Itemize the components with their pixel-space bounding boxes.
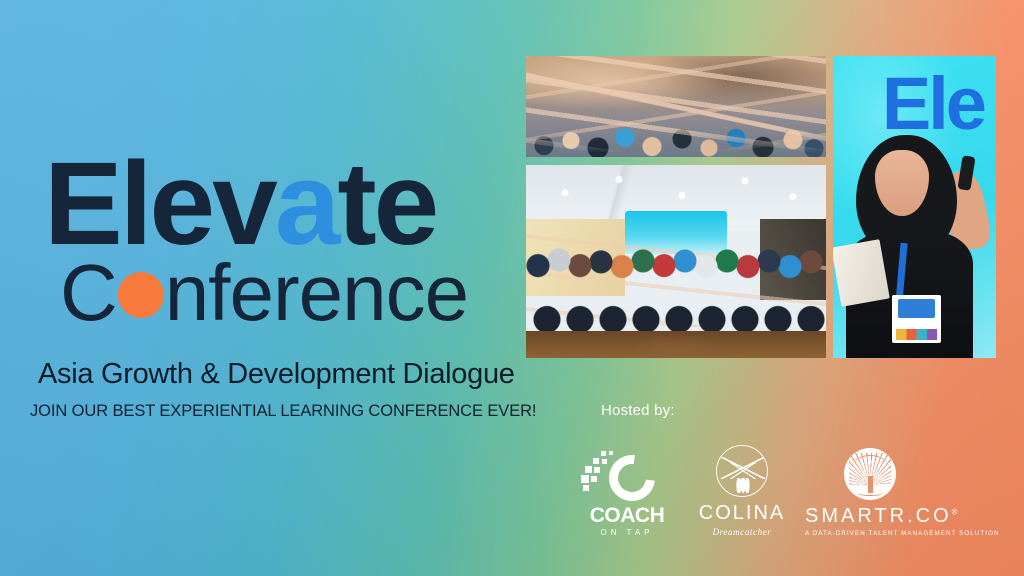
logo-coach-on-tap: COACH ON TAP xyxy=(575,449,679,537)
feather-shape-icon xyxy=(736,478,750,493)
backdrop-text-ele: Ele xyxy=(882,71,984,138)
title-part-1: Elev xyxy=(44,150,275,259)
sponsor-logos: COACH ON TAP COLINA Dreamcatcher SMARTR.… xyxy=(575,437,935,537)
conference-poster: Elevate Cnference Asia Growth & Developm… xyxy=(0,0,1024,576)
colina-logo-name: COLINA xyxy=(690,503,794,523)
title-part-2: te xyxy=(337,150,436,259)
smartr-trademark: ® xyxy=(952,507,958,516)
orange-dot-icon xyxy=(118,272,164,318)
subline: JOIN OUR BEST EXPERIENTIAL LEARNING CONF… xyxy=(30,402,536,421)
coach-logo-tagline: ON TAP xyxy=(575,529,679,537)
speaker-photo-content: Ele n xyxy=(833,56,996,358)
coach-pixel-cluster-icon xyxy=(581,451,617,493)
tagline: Asia Growth & Development Dialogue xyxy=(38,358,515,391)
coach-logo-name: COACH xyxy=(575,505,679,526)
logo-smartr-co: SMARTR.CO® A DATA-DRIVEN TALENT MANAGEME… xyxy=(805,448,935,537)
title-accent-letter-a: a xyxy=(275,150,338,259)
tree-base-icon xyxy=(857,490,883,496)
group-photo-content xyxy=(526,165,826,358)
colina-mountain-icon xyxy=(716,445,768,497)
group-photo xyxy=(526,165,826,358)
smartr-logo-name: SMARTR.CO® xyxy=(805,506,935,526)
coach-on-tap-icon xyxy=(575,449,679,505)
brand-lockup: Elevate Cnference xyxy=(44,150,468,333)
name-badge xyxy=(892,295,941,343)
raised-arms-overlay xyxy=(526,56,826,157)
smartr-logo-name-text: SMARTR.CO xyxy=(805,505,952,527)
carpet-region xyxy=(526,331,826,358)
smartr-logo-tagline: A DATA-DRIVEN TALENT MANAGEMENT SOLUTION xyxy=(805,531,935,537)
smartr-tree-icon xyxy=(844,448,896,500)
colina-logo-tagline: Dreamcatcher xyxy=(690,527,794,537)
hosted-by-label: Hosted by: xyxy=(601,402,675,419)
page-title: Elevate xyxy=(44,150,468,259)
subtitle-part-1: C xyxy=(60,253,117,333)
crowd-cheering-photo xyxy=(526,56,826,157)
mountain-shape-icon xyxy=(721,457,765,479)
speaker-photo: Ele n xyxy=(833,56,996,358)
logo-colina: COLINA Dreamcatcher xyxy=(690,445,794,537)
